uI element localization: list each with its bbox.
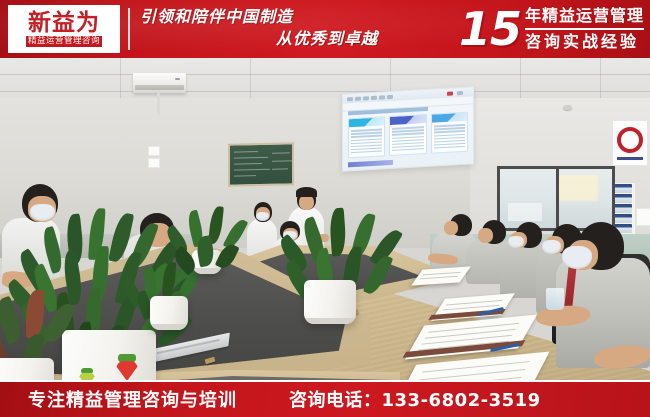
company-logo: 新益为 精益运营管理咨询 (8, 5, 120, 53)
experience-years-number: 15 (459, 6, 521, 52)
poster-bar (617, 157, 643, 160)
experience-line-1: 年精益运营管理 (525, 5, 644, 27)
top-banner: 新益为 精益运营管理咨询 引领和陪伴中国制造 从优秀到卓越 15 年精益运营管理… (0, 0, 650, 58)
wall-poster (612, 120, 648, 166)
slide-cards (348, 112, 468, 159)
experience-line-2: 咨询实战经验 (525, 31, 644, 53)
strawberry-decal (114, 354, 140, 380)
footer-bar: 专注精益管理咨询与培训 咨询电话：133-6802-3519 (0, 380, 650, 417)
chalkboard (228, 142, 294, 186)
ac-vent (135, 85, 184, 90)
ac-pipe (157, 93, 160, 115)
slide-card (348, 116, 385, 158)
flower-pot (304, 280, 356, 324)
poster-circle-icon (617, 127, 643, 153)
logo-name: 新益为 (28, 11, 100, 35)
experience-text: 年精益运营管理 咨询实战经验 (525, 5, 644, 53)
banner-divider (128, 8, 130, 50)
slide-card-body (432, 120, 467, 152)
plant-foliage (186, 234, 230, 274)
flower-pot (0, 358, 54, 380)
wall-note (148, 146, 160, 156)
slide-footer-bar (348, 160, 393, 168)
face-mask (256, 212, 269, 221)
slide-card-body (390, 123, 425, 155)
slide-card-body (349, 125, 384, 157)
water-cup (546, 288, 564, 310)
face-mask (508, 236, 524, 248)
window-glare (558, 175, 598, 201)
projection-screen (342, 86, 474, 171)
footer-separator (0, 380, 650, 382)
attendee-face (444, 221, 458, 235)
air-conditioner (133, 73, 186, 93)
face-mask (562, 246, 592, 269)
slogan-line-2: 从优秀到卓越 (140, 28, 390, 50)
wall-note (636, 208, 650, 226)
footer-slogan: 专注精益管理咨询与培训 (28, 386, 237, 412)
banner-slogan: 引领和陪伴中国制造 从优秀到卓越 (140, 6, 390, 53)
attendee-face (478, 228, 493, 243)
logo-tagline: 精益运营管理咨询 (26, 36, 102, 47)
promo-banner-image: 新益为 精益运营管理咨询 引领和陪伴中国制造 从优秀到卓越 15 年精益运营管理… (0, 0, 650, 417)
experience-badge: 15 年精益运营管理 咨询实战经验 (459, 2, 644, 56)
face-mask (542, 240, 561, 254)
footer-phone: 咨询电话：133-6802-3519 (289, 386, 541, 412)
presenter-hair (296, 187, 317, 197)
ac-indicator-icon (175, 78, 180, 80)
slogan-line-1: 引领和陪伴中国制造 (140, 6, 390, 28)
training-scene-photo (0, 58, 650, 380)
smoke-detector-icon (563, 105, 572, 110)
window-glare (508, 203, 542, 221)
slide-card (431, 112, 468, 154)
wall-note (148, 158, 160, 168)
flower-pot (62, 330, 156, 380)
strawberry-decal (78, 368, 96, 380)
slide-card (389, 114, 426, 156)
flower-pot (150, 296, 188, 330)
experience-rule (525, 28, 644, 30)
